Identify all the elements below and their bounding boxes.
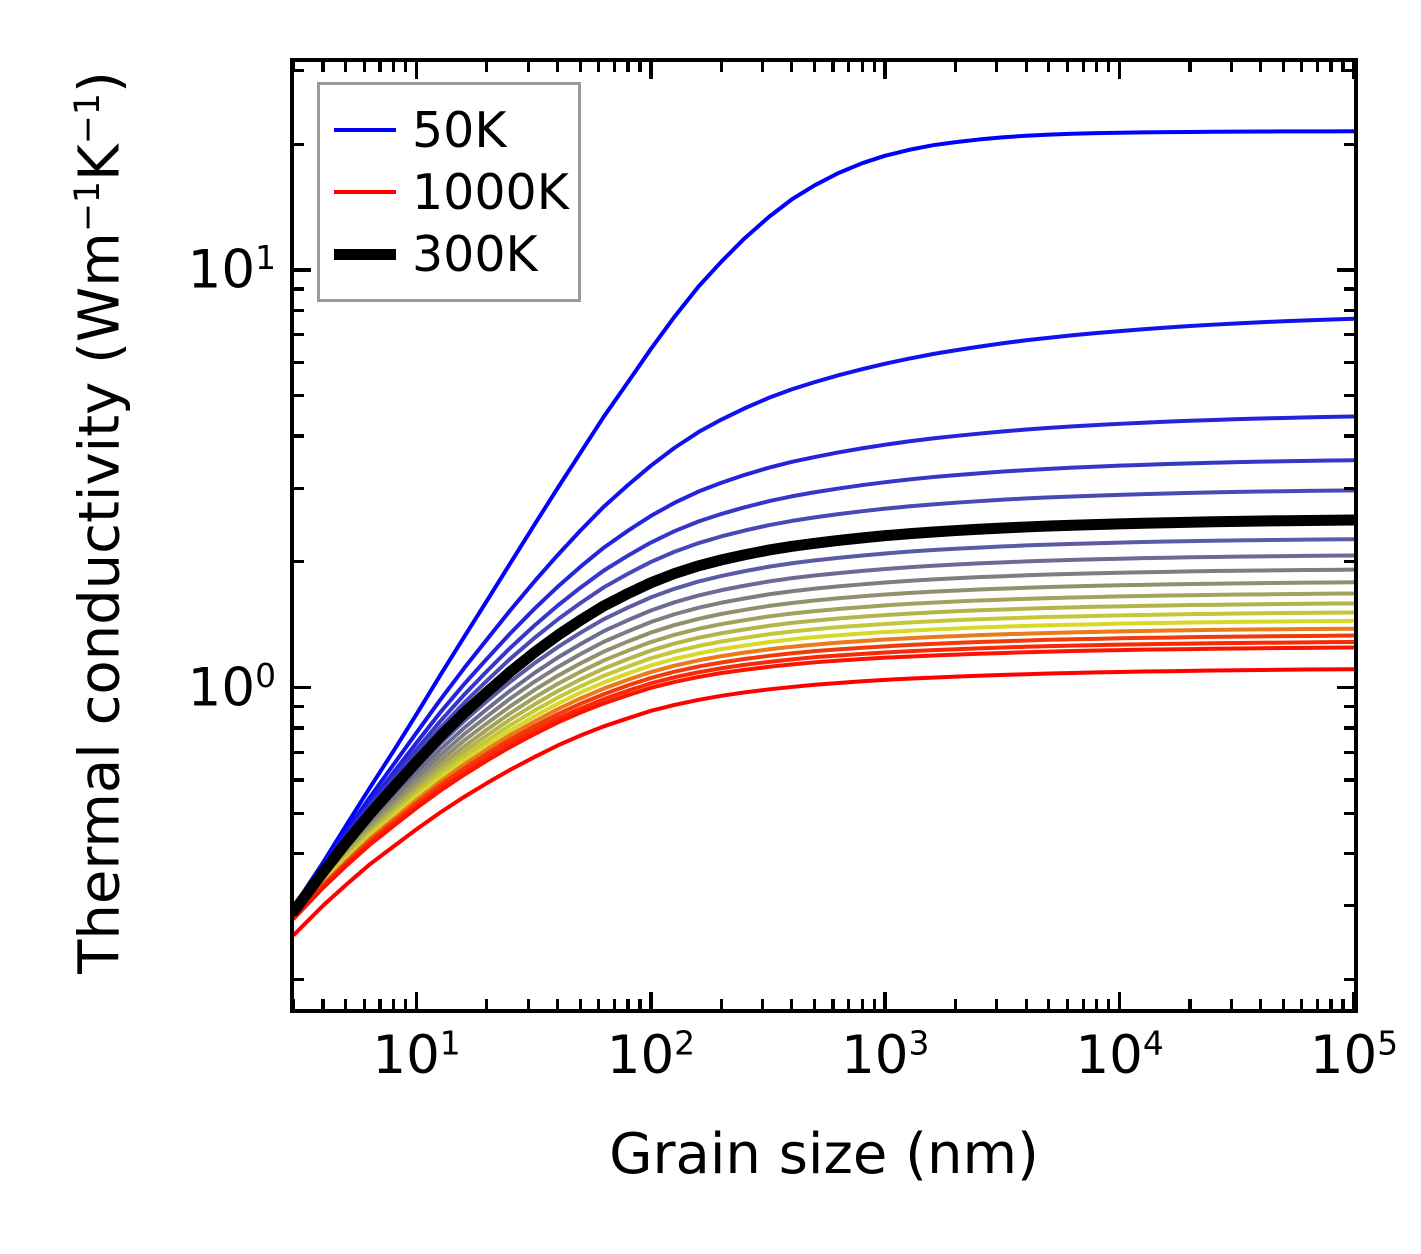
- y-tick-major: [294, 686, 311, 690]
- y-tick-minor-right: [1344, 287, 1354, 290]
- x-tick-minor-top: [1095, 62, 1098, 72]
- legend-swatch-300K: [334, 249, 396, 260]
- y-tick-label: 100: [188, 661, 276, 714]
- x-tick-minor-top: [813, 62, 816, 72]
- x-tick-minor: [1259, 999, 1262, 1009]
- y-tick-minor: [294, 287, 304, 290]
- y-tick-minor-right: [1344, 487, 1354, 490]
- x-tick-minor: [1188, 999, 1191, 1009]
- x-tick-minor: [485, 999, 488, 1009]
- x-tick-minor-top: [847, 62, 850, 72]
- y-tick-minor: [294, 333, 304, 336]
- x-tick-label: 105: [1310, 1029, 1398, 1082]
- y-tick-minor: [294, 726, 304, 729]
- x-tick-minor: [378, 999, 381, 1009]
- y-tick-minor: [294, 143, 304, 146]
- x-tick-minor-top: [1316, 62, 1319, 72]
- y-tick-minor: [294, 751, 304, 754]
- y-tick-minor: [294, 560, 304, 563]
- x-tick-major: [883, 992, 887, 1009]
- y-tick-minor: [294, 69, 304, 72]
- y-tick-minor: [294, 978, 304, 981]
- x-axis-title: Grain size (nm): [290, 1122, 1358, 1187]
- x-tick-major-top: [415, 62, 419, 79]
- legend-item-1000K: 1000K: [334, 161, 562, 223]
- x-tick-minor: [597, 999, 600, 1009]
- y-tick-minor-right: [1344, 394, 1354, 397]
- x-tick-minor-top: [485, 62, 488, 72]
- x-tick-minor: [1341, 999, 1344, 1009]
- y-tick-minor-right: [1344, 778, 1354, 781]
- y-tick-minor: [294, 705, 304, 708]
- figure-root: 101102103104105100101 50K1000K300K Grain…: [0, 0, 1421, 1254]
- legend-swatch-1000K: [334, 190, 396, 194]
- x-tick-minor: [1282, 999, 1285, 1009]
- x-tick-minor-top: [638, 62, 641, 72]
- y-tick-minor: [294, 852, 304, 855]
- x-tick-minor-top: [378, 62, 381, 72]
- curve-800K: [294, 636, 1354, 918]
- x-tick-minor-top: [954, 62, 957, 72]
- x-tick-minor-top: [1329, 62, 1332, 72]
- x-tick-label: 101: [372, 1029, 460, 1082]
- x-tick-minor: [995, 999, 998, 1009]
- x-tick-minor: [813, 999, 816, 1009]
- legend-label: 50K: [412, 106, 506, 155]
- x-tick-minor: [847, 999, 850, 1009]
- x-tick-minor: [873, 999, 876, 1009]
- x-tick-minor-top: [363, 62, 366, 72]
- x-tick-minor-top: [720, 62, 723, 72]
- x-tick-minor-top: [404, 62, 407, 72]
- x-tick-minor-top: [831, 62, 834, 72]
- curve-700K: [294, 621, 1354, 916]
- x-tick-minor: [1095, 999, 1098, 1009]
- legend-swatch-50K: [334, 128, 396, 132]
- x-tick-label: 104: [1075, 1029, 1163, 1082]
- x-tick-major-top: [1118, 62, 1122, 79]
- y-tick-minor: [294, 309, 304, 312]
- x-tick-minor: [831, 999, 834, 1009]
- y-tick-minor-right: [1344, 852, 1354, 855]
- x-tick-major: [1352, 992, 1356, 1009]
- x-tick-minor: [404, 999, 407, 1009]
- x-tick-minor: [638, 999, 641, 1009]
- legend-label: 1000K: [412, 168, 569, 217]
- x-tick-minor: [954, 999, 957, 1009]
- x-tick-minor: [292, 999, 295, 1009]
- x-tick-minor: [392, 999, 395, 1009]
- x-tick-minor: [556, 999, 559, 1009]
- y-tick-minor: [294, 778, 304, 781]
- x-tick-minor-top: [861, 62, 864, 72]
- y-tick-minor-right: [1344, 309, 1354, 312]
- x-tick-minor: [1300, 999, 1303, 1009]
- x-tick-minor: [579, 999, 582, 1009]
- x-tick-minor-top: [579, 62, 582, 72]
- x-tick-minor: [1082, 999, 1085, 1009]
- x-tick-major: [649, 992, 653, 1009]
- x-tick-minor: [344, 999, 347, 1009]
- x-tick-minor-top: [995, 62, 998, 72]
- y-tick-minor: [294, 904, 304, 907]
- legend-label: 300K: [412, 230, 538, 279]
- x-tick-minor: [1329, 999, 1332, 1009]
- x-tick-label: 102: [607, 1029, 695, 1082]
- x-tick-minor-top: [1082, 62, 1085, 72]
- y-tick-minor: [294, 394, 304, 397]
- y-tick-label: 101: [188, 244, 276, 297]
- x-tick-major-top: [883, 62, 887, 79]
- x-tick-minor: [790, 999, 793, 1009]
- x-tick-minor: [626, 999, 629, 1009]
- x-tick-minor-top: [597, 62, 600, 72]
- x-tick-minor-top: [761, 62, 764, 72]
- x-tick-minor-top: [527, 62, 530, 72]
- x-tick-minor-top: [1188, 62, 1191, 72]
- x-tick-minor: [363, 999, 366, 1009]
- x-tick-minor: [1047, 999, 1050, 1009]
- y-tick-major-right: [1337, 268, 1354, 272]
- y-tick-minor: [294, 487, 304, 490]
- x-tick-minor-top: [613, 62, 616, 72]
- x-tick-minor: [321, 999, 324, 1009]
- legend-item-50K: 50K: [334, 99, 562, 161]
- x-tick-minor-top: [790, 62, 793, 72]
- x-tick-minor: [861, 999, 864, 1009]
- x-tick-minor: [1230, 999, 1233, 1009]
- y-tick-minor: [294, 434, 304, 437]
- x-tick-minor: [720, 999, 723, 1009]
- legend: 50K1000K300K: [317, 82, 581, 302]
- y-tick-minor-right: [1344, 751, 1354, 754]
- x-tick-minor-top: [626, 62, 629, 72]
- x-tick-major: [415, 992, 419, 1009]
- x-tick-minor-top: [873, 62, 876, 72]
- y-tick-minor: [294, 361, 304, 364]
- x-tick-minor: [527, 999, 530, 1009]
- x-tick-minor-top: [1047, 62, 1050, 72]
- y-tick-major-right: [1337, 686, 1354, 690]
- y-tick-minor-right: [1344, 812, 1354, 815]
- x-tick-minor-top: [1282, 62, 1285, 72]
- x-tick-minor-top: [556, 62, 559, 72]
- x-tick-minor: [1107, 999, 1110, 1009]
- x-tick-minor-top: [344, 62, 347, 72]
- x-tick-minor-top: [1025, 62, 1028, 72]
- x-tick-minor: [761, 999, 764, 1009]
- x-tick-minor-top: [392, 62, 395, 72]
- y-tick-minor-right: [1344, 904, 1354, 907]
- x-tick-minor-top: [1066, 62, 1069, 72]
- y-tick-minor-right: [1344, 143, 1354, 146]
- x-tick-minor-top: [1107, 62, 1110, 72]
- y-axis-title: Thermal conductivity (Wm−1K−1): [68, 23, 133, 1023]
- y-tick-minor-right: [1344, 978, 1354, 981]
- x-tick-minor: [1316, 999, 1319, 1009]
- y-tick-minor: [294, 812, 304, 815]
- y-tick-minor-right: [1344, 69, 1354, 72]
- x-tick-minor-top: [1230, 62, 1233, 72]
- x-tick-label: 103: [841, 1029, 929, 1082]
- x-tick-minor-top: [321, 62, 324, 72]
- y-tick-minor-right: [1344, 434, 1354, 437]
- y-tick-minor-right: [1344, 726, 1354, 729]
- legend-item-300K: 300K: [334, 223, 562, 285]
- x-tick-major: [1118, 992, 1122, 1009]
- y-tick-minor-right: [1344, 361, 1354, 364]
- curve-950K: [294, 647, 1354, 918]
- y-tick-minor-right: [1344, 705, 1354, 708]
- x-tick-minor: [613, 999, 616, 1009]
- y-tick-major: [294, 268, 311, 272]
- x-tick-minor: [1025, 999, 1028, 1009]
- x-tick-minor-top: [1259, 62, 1262, 72]
- x-tick-major-top: [649, 62, 653, 79]
- x-tick-minor: [1066, 999, 1069, 1009]
- x-tick-minor-top: [1300, 62, 1303, 72]
- y-tick-minor-right: [1344, 333, 1354, 336]
- y-tick-minor-right: [1344, 560, 1354, 563]
